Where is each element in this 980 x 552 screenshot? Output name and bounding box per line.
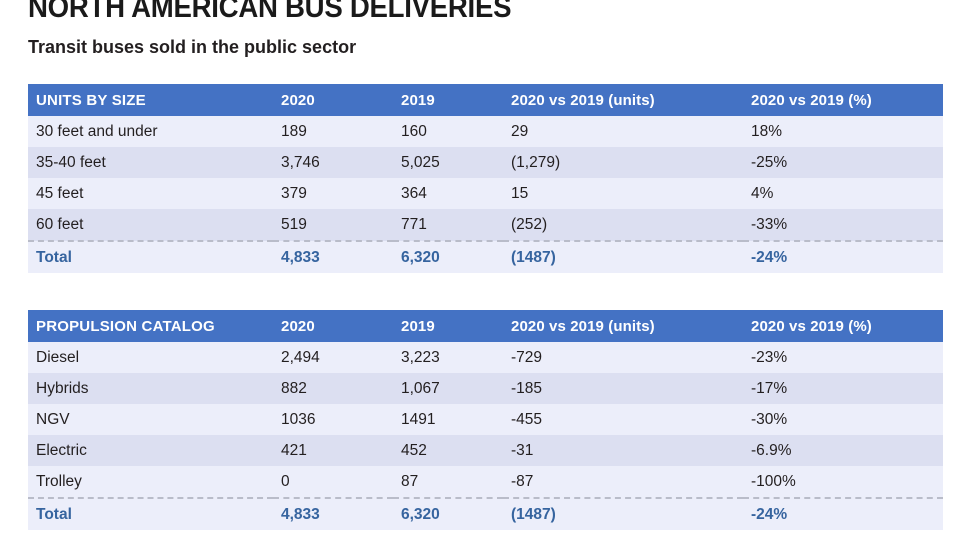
column-header-delta-percent: 2020 vs 2019 (%) bbox=[743, 310, 943, 342]
cell-category: NGV bbox=[28, 404, 273, 435]
cell-2020: 421 bbox=[273, 435, 393, 466]
column-header-2020: 2020 bbox=[273, 310, 393, 342]
column-header-2019: 2019 bbox=[393, 310, 503, 342]
cell-total-delta-units: (1487) bbox=[503, 498, 743, 530]
column-header-delta-units: 2020 vs 2019 (units) bbox=[503, 310, 743, 342]
cell-category: Electric bbox=[28, 435, 273, 466]
cell-delta-units: (1,279) bbox=[503, 147, 743, 178]
table-total-row: Total 4,833 6,320 (1487) -24% bbox=[28, 241, 943, 273]
cell-2020: 3,746 bbox=[273, 147, 393, 178]
cell-category: 45 feet bbox=[28, 178, 273, 209]
cell-total-label: Total bbox=[28, 241, 273, 273]
table-propulsion-catalog-container: PROPULSION CATALOG 2020 2019 2020 vs 201… bbox=[28, 310, 943, 530]
cell-delta-percent: -25% bbox=[743, 147, 943, 178]
table-body: 30 feet and under 189 160 29 18% 35-40 f… bbox=[28, 116, 943, 273]
cell-2020: 2,494 bbox=[273, 342, 393, 373]
cell-total-label: Total bbox=[28, 498, 273, 530]
table-header-row: PROPULSION CATALOG 2020 2019 2020 vs 201… bbox=[28, 310, 943, 342]
column-header-2019: 2019 bbox=[393, 84, 503, 116]
table-row: Diesel 2,494 3,223 -729 -23% bbox=[28, 342, 943, 373]
cell-delta-units: -729 bbox=[503, 342, 743, 373]
cell-2019: 1491 bbox=[393, 404, 503, 435]
table-propulsion-catalog: PROPULSION CATALOG 2020 2019 2020 vs 201… bbox=[28, 310, 943, 530]
cell-delta-percent: -33% bbox=[743, 209, 943, 241]
infographic-page: NORTH AMERICAN BUS DELIVERIES Transit bu… bbox=[0, 0, 980, 552]
cell-2020: 0 bbox=[273, 466, 393, 498]
cell-2019: 364 bbox=[393, 178, 503, 209]
cell-delta-percent: -100% bbox=[743, 466, 943, 498]
cell-delta-units: (252) bbox=[503, 209, 743, 241]
table-row: Hybrids 882 1,067 -185 -17% bbox=[28, 373, 943, 404]
table-row: NGV 1036 1491 -455 -30% bbox=[28, 404, 943, 435]
cell-total-delta-units: (1487) bbox=[503, 241, 743, 273]
cell-2020: 882 bbox=[273, 373, 393, 404]
cell-2020: 189 bbox=[273, 116, 393, 147]
cell-delta-units: -87 bbox=[503, 466, 743, 498]
page-subtitle: Transit buses sold in the public sector bbox=[28, 36, 356, 58]
cell-delta-percent: -30% bbox=[743, 404, 943, 435]
cell-delta-units: -455 bbox=[503, 404, 743, 435]
table-header-row: UNITS BY SIZE 2020 2019 2020 vs 2019 (un… bbox=[28, 84, 943, 116]
cell-2019: 1,067 bbox=[393, 373, 503, 404]
cell-category: 35-40 feet bbox=[28, 147, 273, 178]
cell-total-2020: 4,833 bbox=[273, 498, 393, 530]
table-units-by-size-container: UNITS BY SIZE 2020 2019 2020 vs 2019 (un… bbox=[28, 84, 943, 273]
table-units-by-size: UNITS BY SIZE 2020 2019 2020 vs 2019 (un… bbox=[28, 84, 943, 273]
cell-delta-percent: -6.9% bbox=[743, 435, 943, 466]
table-row: 35-40 feet 3,746 5,025 (1,279) -25% bbox=[28, 147, 943, 178]
table-row: 60 feet 519 771 (252) -33% bbox=[28, 209, 943, 241]
cell-category: Diesel bbox=[28, 342, 273, 373]
cell-delta-percent: 18% bbox=[743, 116, 943, 147]
cell-delta-units: 29 bbox=[503, 116, 743, 147]
cell-delta-percent: -23% bbox=[743, 342, 943, 373]
column-header-category: UNITS BY SIZE bbox=[28, 84, 273, 116]
table-body: Diesel 2,494 3,223 -729 -23% Hybrids 882… bbox=[28, 342, 943, 530]
table-row: Trolley 0 87 -87 -100% bbox=[28, 466, 943, 498]
table-row: 45 feet 379 364 15 4% bbox=[28, 178, 943, 209]
column-header-category: PROPULSION CATALOG bbox=[28, 310, 273, 342]
cell-category: Trolley bbox=[28, 466, 273, 498]
cell-2020: 379 bbox=[273, 178, 393, 209]
cell-2019: 5,025 bbox=[393, 147, 503, 178]
cell-2019: 452 bbox=[393, 435, 503, 466]
table-total-row: Total 4,833 6,320 (1487) -24% bbox=[28, 498, 943, 530]
cell-2019: 160 bbox=[393, 116, 503, 147]
cell-2019: 3,223 bbox=[393, 342, 503, 373]
cell-delta-percent: -17% bbox=[743, 373, 943, 404]
table-header: UNITS BY SIZE 2020 2019 2020 vs 2019 (un… bbox=[28, 84, 943, 116]
cell-category: 60 feet bbox=[28, 209, 273, 241]
cell-category: Hybrids bbox=[28, 373, 273, 404]
cell-delta-percent: 4% bbox=[743, 178, 943, 209]
cell-delta-units: 15 bbox=[503, 178, 743, 209]
table-header: PROPULSION CATALOG 2020 2019 2020 vs 201… bbox=[28, 310, 943, 342]
cell-total-2019: 6,320 bbox=[393, 241, 503, 273]
cell-delta-units: -31 bbox=[503, 435, 743, 466]
cell-total-2020: 4,833 bbox=[273, 241, 393, 273]
page-title: NORTH AMERICAN BUS DELIVERIES bbox=[28, 0, 511, 23]
cell-total-2019: 6,320 bbox=[393, 498, 503, 530]
cell-delta-units: -185 bbox=[503, 373, 743, 404]
cell-2020: 519 bbox=[273, 209, 393, 241]
column-header-2020: 2020 bbox=[273, 84, 393, 116]
cell-category: 30 feet and under bbox=[28, 116, 273, 147]
cell-2020: 1036 bbox=[273, 404, 393, 435]
cell-2019: 771 bbox=[393, 209, 503, 241]
table-row: 30 feet and under 189 160 29 18% bbox=[28, 116, 943, 147]
column-header-delta-units: 2020 vs 2019 (units) bbox=[503, 84, 743, 116]
cell-total-delta-percent: -24% bbox=[743, 241, 943, 273]
cell-total-delta-percent: -24% bbox=[743, 498, 943, 530]
cell-2019: 87 bbox=[393, 466, 503, 498]
column-header-delta-percent: 2020 vs 2019 (%) bbox=[743, 84, 943, 116]
table-row: Electric 421 452 -31 -6.9% bbox=[28, 435, 943, 466]
